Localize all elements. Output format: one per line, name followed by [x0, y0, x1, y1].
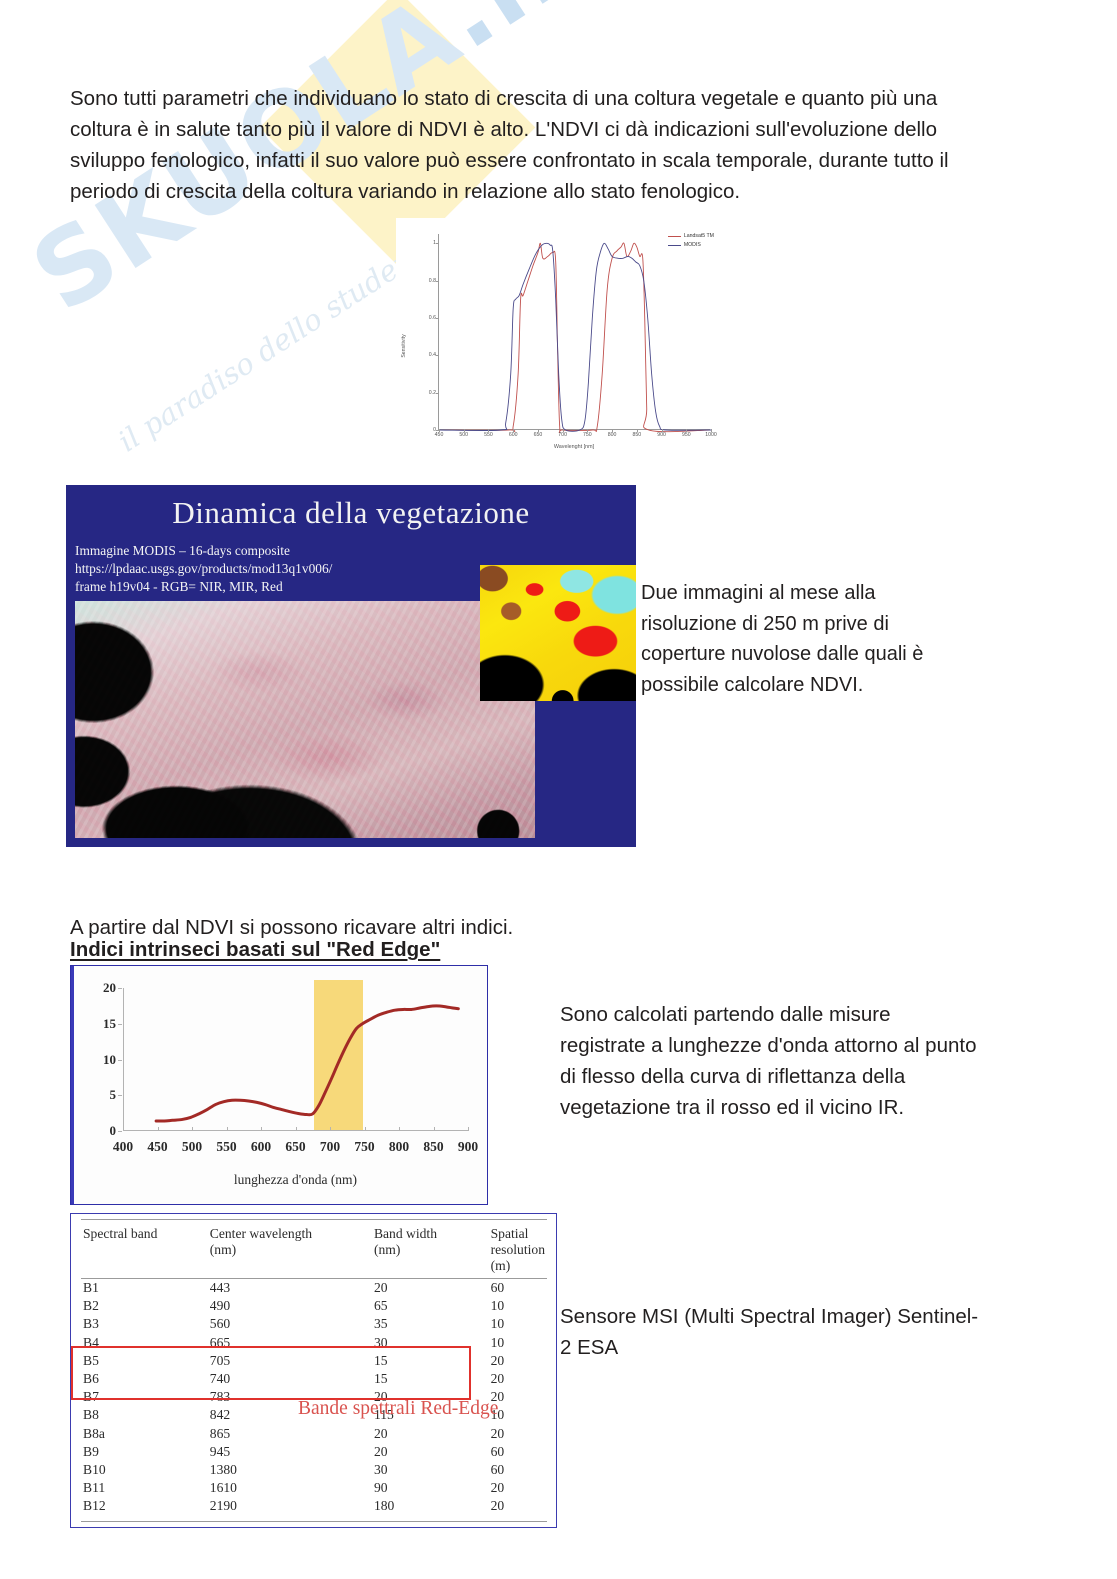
chart2-y-tickmark [118, 1131, 122, 1132]
col-header-center-wavelength: Center wavelength(nm) [166, 1220, 336, 1279]
chart1-x-tickmark [662, 429, 663, 432]
chart1-x-tick: 550 [484, 432, 493, 438]
table-cell-band: B12 [81, 1497, 166, 1521]
red-edge-caption: Sono calcolati partendo dalle misure reg… [560, 999, 980, 1123]
chart1-y-axis-label: Sensitivity [401, 334, 407, 357]
table-cell-width: 20 [336, 1279, 463, 1298]
slide-meta-url: https://lpdaac.usgs.gov/products/mod13q1… [75, 561, 332, 577]
chart1-y-tick: 0.4 [429, 352, 436, 358]
red-edge-bands-annotation: Bande spettrali Red-Edge [298, 1398, 498, 1420]
table-cell-band: B6 [81, 1370, 166, 1388]
table-cell-res: 20 [463, 1479, 547, 1497]
chart2-x-tick: 800 [389, 1139, 409, 1155]
table-cell-band: B8 [81, 1406, 166, 1424]
chart2-x-tick: 450 [147, 1139, 167, 1155]
chart1-y-tickmark [436, 281, 439, 282]
chart2-x-tickmark [192, 1127, 193, 1131]
chart1-y-tickmark [436, 393, 439, 394]
table-cell-center: 665 [166, 1334, 336, 1352]
chart2-x-tick: 700 [320, 1139, 340, 1155]
chart1-x-tickmark [612, 429, 613, 432]
chart2-y-tick: 10 [103, 1052, 116, 1068]
chart1-x-tick: 650 [534, 432, 543, 438]
chart2-y-tick: 0 [110, 1123, 117, 1139]
chart2-y-tickmark [118, 1095, 122, 1096]
table-cell-width: 90 [336, 1479, 463, 1497]
table-row: B57051520 [81, 1352, 547, 1370]
table-cell-res: 20 [463, 1497, 547, 1521]
table-cell-center: 2190 [166, 1497, 336, 1521]
chart2-x-tickmark [227, 1127, 228, 1131]
table-cell-width: 35 [336, 1315, 463, 1333]
chart2-x-tickmark [296, 1127, 297, 1131]
chart1-legend-swatch [668, 245, 681, 246]
chart2-x-tick: 500 [182, 1139, 202, 1155]
chart2-y-tick: 15 [103, 1016, 116, 1032]
table-cell-center: 740 [166, 1370, 336, 1388]
table-header: Spectral band Center wavelength(nm) Band… [81, 1220, 547, 1279]
table-row: B12219018020 [81, 1497, 547, 1521]
table-cell-band: B10 [81, 1461, 166, 1479]
table-row: B46653010 [81, 1334, 547, 1352]
chart1-x-tick: 500 [459, 432, 468, 438]
chart2-x-tick: 550 [216, 1139, 236, 1155]
chart1-x-tickmark [488, 429, 489, 432]
chart1-x-tick: 950 [682, 432, 691, 438]
table-cell-band: B9 [81, 1443, 166, 1461]
chart2-y-tickmark [118, 988, 122, 989]
table-row: B1013803060 [81, 1461, 547, 1479]
table-cell-res: 20 [463, 1425, 547, 1443]
chart1-x-tick: 450 [435, 432, 444, 438]
table-cell-width: 20 [336, 1443, 463, 1461]
table-cell-center: 945 [166, 1443, 336, 1461]
chart1-y-tickmark [436, 355, 439, 356]
chart1-x-tick: 900 [657, 432, 666, 438]
table-cell-center: 490 [166, 1297, 336, 1315]
chart1-y-tick: 0.6 [429, 315, 436, 321]
table-cell-band: B2 [81, 1297, 166, 1315]
slide-title: Dinamica della vegetazione [66, 495, 636, 531]
table-cell-band: B11 [81, 1479, 166, 1497]
ndvi-caption: Due immagini al mese alla risoluzione di… [641, 578, 941, 700]
chart1-y-tickmark [436, 243, 439, 244]
chart1-x-tickmark [538, 429, 539, 432]
table-cell-res: 60 [463, 1443, 547, 1461]
chart1-y-tick: 0.8 [429, 278, 436, 284]
table-cell-center: 1610 [166, 1479, 336, 1497]
table-cell-width: 15 [336, 1370, 463, 1388]
spectral-bands-table: Spectral band Center wavelength(nm) Band… [81, 1219, 547, 1522]
modis-rgb-composite-image [75, 601, 535, 838]
table-cell-center: 560 [166, 1315, 336, 1333]
table-cell-center: 865 [166, 1425, 336, 1443]
slide-meta-source: Immagine MODIS – 16-days composite [75, 543, 290, 559]
slide-meta-frame: frame h19v04 - RGB= NIR, MIR, Red [75, 579, 283, 595]
chart1-x-tickmark [464, 429, 465, 432]
chart1-x-tick: 850 [632, 432, 641, 438]
chart2-x-tickmark [399, 1127, 400, 1131]
chart1-legend: Landsat5 TMMODIS [668, 232, 714, 250]
table-cell-band: B5 [81, 1352, 166, 1370]
chart1-x-tickmark [439, 429, 440, 432]
spectral-bands-table-box: Spectral band Center wavelength(nm) Band… [70, 1213, 557, 1528]
chart1-legend-item: Landsat5 TM [668, 232, 714, 241]
chart2-y-tick: 20 [103, 980, 116, 996]
chart1-x-axis-label: Wavelenght [nm] [438, 444, 710, 450]
chart2-x-tick: 600 [251, 1139, 271, 1155]
table-row: B8a8652020 [81, 1425, 547, 1443]
table-row: B14432060 [81, 1279, 547, 1298]
col-header-line: Center wavelength [210, 1226, 334, 1242]
msi-sensor-caption: Sensore MSI (Multi Spectral Imager) Sent… [560, 1301, 980, 1363]
table-cell-center: 1380 [166, 1461, 336, 1479]
modis-ndvi-inset-image [480, 565, 636, 701]
chart1-x-tick: 750 [583, 432, 592, 438]
chart1-legend-label: Landsat5 TM [684, 232, 714, 241]
chart2-x-tickmark [468, 1127, 469, 1131]
table-cell-res: 10 [463, 1334, 547, 1352]
col-header-band-width: Band width(nm) [336, 1220, 463, 1279]
table-cell-center: 443 [166, 1279, 336, 1298]
table-cell-width: 30 [336, 1461, 463, 1479]
chart1-x-tickmark [513, 429, 514, 432]
col-header-spatial-resolution: Spatial resolution(m) [463, 1220, 547, 1279]
red-edge-reflectance-chart: 0510152040045050055060065070075080085090… [70, 965, 488, 1205]
chart1-x-tick: 600 [509, 432, 518, 438]
chart2-x-tickmark [261, 1127, 262, 1131]
table-header-row: Spectral band Center wavelength(nm) Band… [81, 1220, 547, 1279]
col-header-line: (m) [491, 1258, 545, 1274]
chart1-y-tick: 0.2 [429, 390, 436, 396]
table-cell-width: 180 [336, 1497, 463, 1521]
col-header-spectral-band: Spectral band [81, 1220, 166, 1279]
chart1-y-tickmark [436, 318, 439, 319]
chart2-x-tickmark [330, 1127, 331, 1131]
col-header-line: Band width [374, 1226, 461, 1242]
chart2-x-tick: 750 [354, 1139, 374, 1155]
chart1-x-tickmark [686, 429, 687, 432]
chart1-legend-swatch [668, 236, 681, 237]
chart2-x-tickmark [434, 1127, 435, 1131]
table-cell-res: 20 [463, 1370, 547, 1388]
table-cell-band: B8a [81, 1425, 166, 1443]
table-cell-band: B1 [81, 1279, 166, 1298]
chart1-x-tick: 1000 [705, 432, 717, 438]
table-cell-width: 65 [336, 1297, 463, 1315]
chart1-curves [439, 234, 711, 430]
chart1-x-tick: 800 [608, 432, 617, 438]
col-header-line: (nm) [374, 1242, 461, 1258]
chart2-x-tickmark [365, 1127, 366, 1131]
modis-vegetation-slide: Dinamica della vegetazione Immagine MODI… [66, 485, 636, 847]
table-cell-band: B7 [81, 1388, 166, 1406]
col-header-line: Spectral band [83, 1226, 164, 1242]
chart1-x-tickmark [563, 429, 564, 432]
table-cell-res: 20 [463, 1352, 547, 1370]
chart2-x-tick: 850 [423, 1139, 443, 1155]
red-edge-heading: Indici intrinseci basati sul "Red Edge" [70, 934, 440, 965]
table-cell-res: 60 [463, 1279, 547, 1298]
chart1-plot-area: 00.20.40.60.8145050055060065070075080085… [438, 234, 710, 430]
table-row: B99452060 [81, 1443, 547, 1461]
chart1-legend-item: MODIS [668, 241, 714, 250]
table-cell-res: 10 [463, 1315, 547, 1333]
table-row: B67401520 [81, 1370, 547, 1388]
chart1-x-tick: 700 [558, 432, 567, 438]
watermark-tagline: il paradiso dello studente [112, 227, 444, 459]
table-cell-band: B3 [81, 1315, 166, 1333]
chart2-x-tickmark [158, 1127, 159, 1131]
chart2-y-tick: 5 [110, 1087, 117, 1103]
table-cell-res: 10 [463, 1297, 547, 1315]
intro-paragraph: Sono tutti parametri che individuano lo … [70, 83, 995, 207]
chart2-y-tickmark [118, 1060, 122, 1061]
table-cell-width: 20 [336, 1425, 463, 1443]
chart2-x-axis-label: lunghezza d'onda (nm) [123, 1172, 468, 1188]
chart2-y-tickmark [118, 1024, 122, 1025]
col-header-line: (nm) [210, 1242, 334, 1258]
col-header-line: Spatial resolution [491, 1226, 545, 1258]
table-cell-width: 30 [336, 1334, 463, 1352]
table-cell-center: 705 [166, 1352, 336, 1370]
spectral-sensitivity-chart: Sensitivity 00.20.40.60.8145050055060065… [396, 218, 726, 468]
chart2-x-tick: 400 [113, 1139, 133, 1155]
table-cell-width: 15 [336, 1352, 463, 1370]
chart2-plot-area: 0510152040045050055060065070075080085090… [123, 988, 468, 1131]
chart1-x-tickmark [587, 429, 588, 432]
table-cell-res: 60 [463, 1461, 547, 1479]
chart1-legend-label: MODIS [684, 241, 701, 250]
chart1-x-tickmark [711, 429, 712, 432]
table-row: B35603510 [81, 1315, 547, 1333]
chart2-x-tick: 900 [458, 1139, 478, 1155]
table-row: B1116109020 [81, 1479, 547, 1497]
table-cell-band: B4 [81, 1334, 166, 1352]
chart2-curve [123, 988, 468, 1131]
chart1-x-tickmark [637, 429, 638, 432]
table-row: B24906510 [81, 1297, 547, 1315]
watermark-brand-suffix: .net [417, 0, 683, 73]
chart2-x-tick: 650 [285, 1139, 305, 1155]
